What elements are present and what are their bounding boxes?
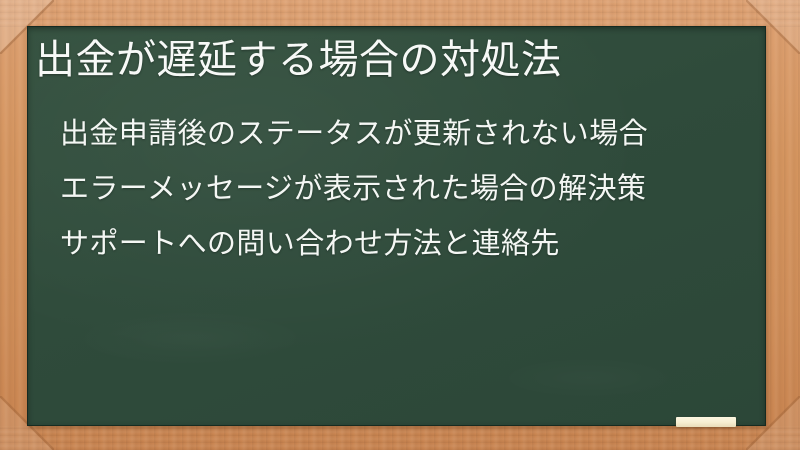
list-item: 出金申請後のステータスが更新されない場合 <box>60 106 648 161</box>
list-item: エラーメッセージが表示された場合の解決策 <box>60 161 648 216</box>
blackboard-surface: 出金が遅延する場合の対処法 出金申請後のステータスが更新されない場合 エラーメッ… <box>27 26 766 426</box>
board-content: 出金が遅延する場合の対処法 出金申請後のステータスが更新されない場合 エラーメッ… <box>27 26 766 426</box>
chalk-stick <box>676 417 736 427</box>
list-item: サポートへの問い合わせ方法と連絡先 <box>60 216 648 271</box>
blackboard-slide: 出金が遅延する場合の対処法 出金申請後のステータスが更新されない場合 エラーメッ… <box>0 0 800 450</box>
slide-title: 出金が遅延する場合の対処法 <box>35 32 562 88</box>
bullet-list: 出金申請後のステータスが更新されない場合 エラーメッセージが表示された場合の解決… <box>60 106 648 271</box>
